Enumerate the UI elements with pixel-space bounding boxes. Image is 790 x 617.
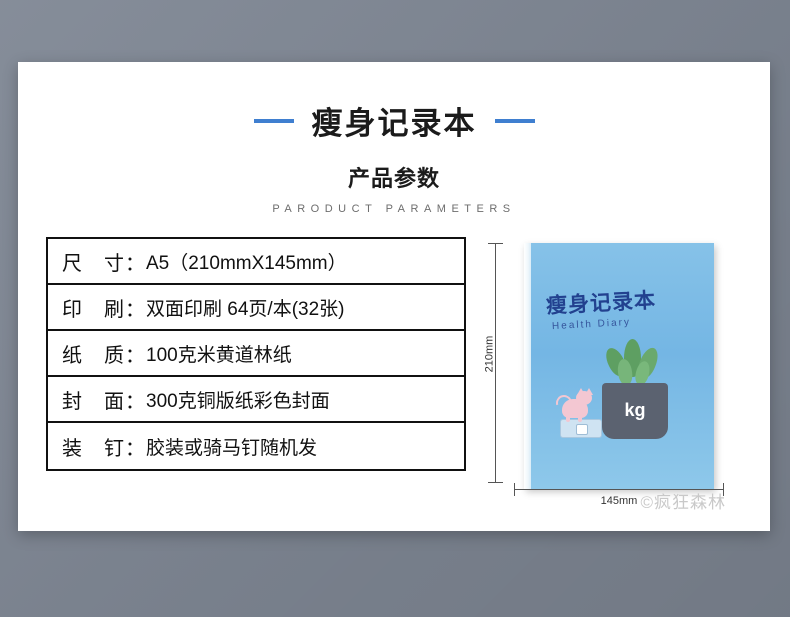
spec-label: 印 刷：: [62, 293, 146, 322]
cover-title: 瘦身记录本: [545, 284, 656, 320]
table-row: 纸 质： 100克米黄道林纸: [48, 331, 464, 377]
notebook-cover-image: 瘦身记录本 Health Diary kg: [524, 243, 714, 489]
product-spec-card: 瘦身记录本 产品参数 PARODUCT PARAMETERS 尺 寸： A5（2…: [18, 62, 770, 531]
notebook-spine: [524, 243, 531, 489]
title-rule-left: [254, 119, 294, 123]
title-row: 瘦身记录本: [18, 98, 770, 143]
pot-icon: kg: [602, 383, 668, 439]
body-row: 尺 寸： A5（210mmX145mm） 印 刷： 双面印刷 64页/本(32张…: [46, 237, 742, 505]
pot-label: kg: [602, 400, 668, 421]
cover-subtitle: Health Diary: [552, 317, 631, 332]
spec-value: 胶装或骑马钉随机发: [146, 433, 317, 460]
spec-value: 100克米黄道林纸: [146, 340, 292, 367]
scale-dial-icon: [576, 424, 588, 435]
dimension-cap-bottom: [488, 482, 503, 483]
table-row: 封 面： 300克铜版纸彩色封面: [48, 377, 464, 423]
cat-icon: [560, 387, 594, 421]
spec-table: 尺 寸： A5（210mmX145mm） 印 刷： 双面印刷 64页/本(32张…: [46, 237, 466, 471]
cat-head: [576, 391, 592, 405]
table-row: 印 刷： 双面印刷 64页/本(32张): [48, 285, 464, 331]
spec-value: 双面印刷 64页/本(32张): [146, 294, 344, 321]
table-row: 装 钉： 胶装或骑马钉随机发: [48, 423, 464, 469]
section-subtitle: 产品参数: [18, 161, 770, 193]
product-preview: 210mm 瘦身记录本 Health Diary kg: [480, 237, 742, 505]
title-rule-right: [495, 119, 535, 123]
watermark: ©疯狂森林: [640, 488, 726, 513]
dimension-height-label: 210mm: [483, 336, 495, 373]
page-title: 瘦身记录本: [312, 98, 477, 143]
spec-value: A5（210mmX145mm）: [146, 248, 347, 275]
spec-value: 300克铜版纸彩色封面: [146, 386, 330, 413]
spec-label: 封 面：: [62, 385, 146, 414]
table-row: 尺 寸： A5（210mmX145mm）: [48, 239, 464, 285]
cat-leg-left: [566, 416, 570, 422]
spec-label: 纸 质：: [62, 339, 146, 368]
cat-leg-right: [578, 416, 582, 422]
dimension-height: 210mm: [484, 243, 506, 483]
section-subtitle-en: PARODUCT PARAMETERS: [18, 203, 770, 215]
spec-label: 尺 寸：: [62, 247, 146, 276]
spec-label: 装 钉：: [62, 432, 146, 461]
